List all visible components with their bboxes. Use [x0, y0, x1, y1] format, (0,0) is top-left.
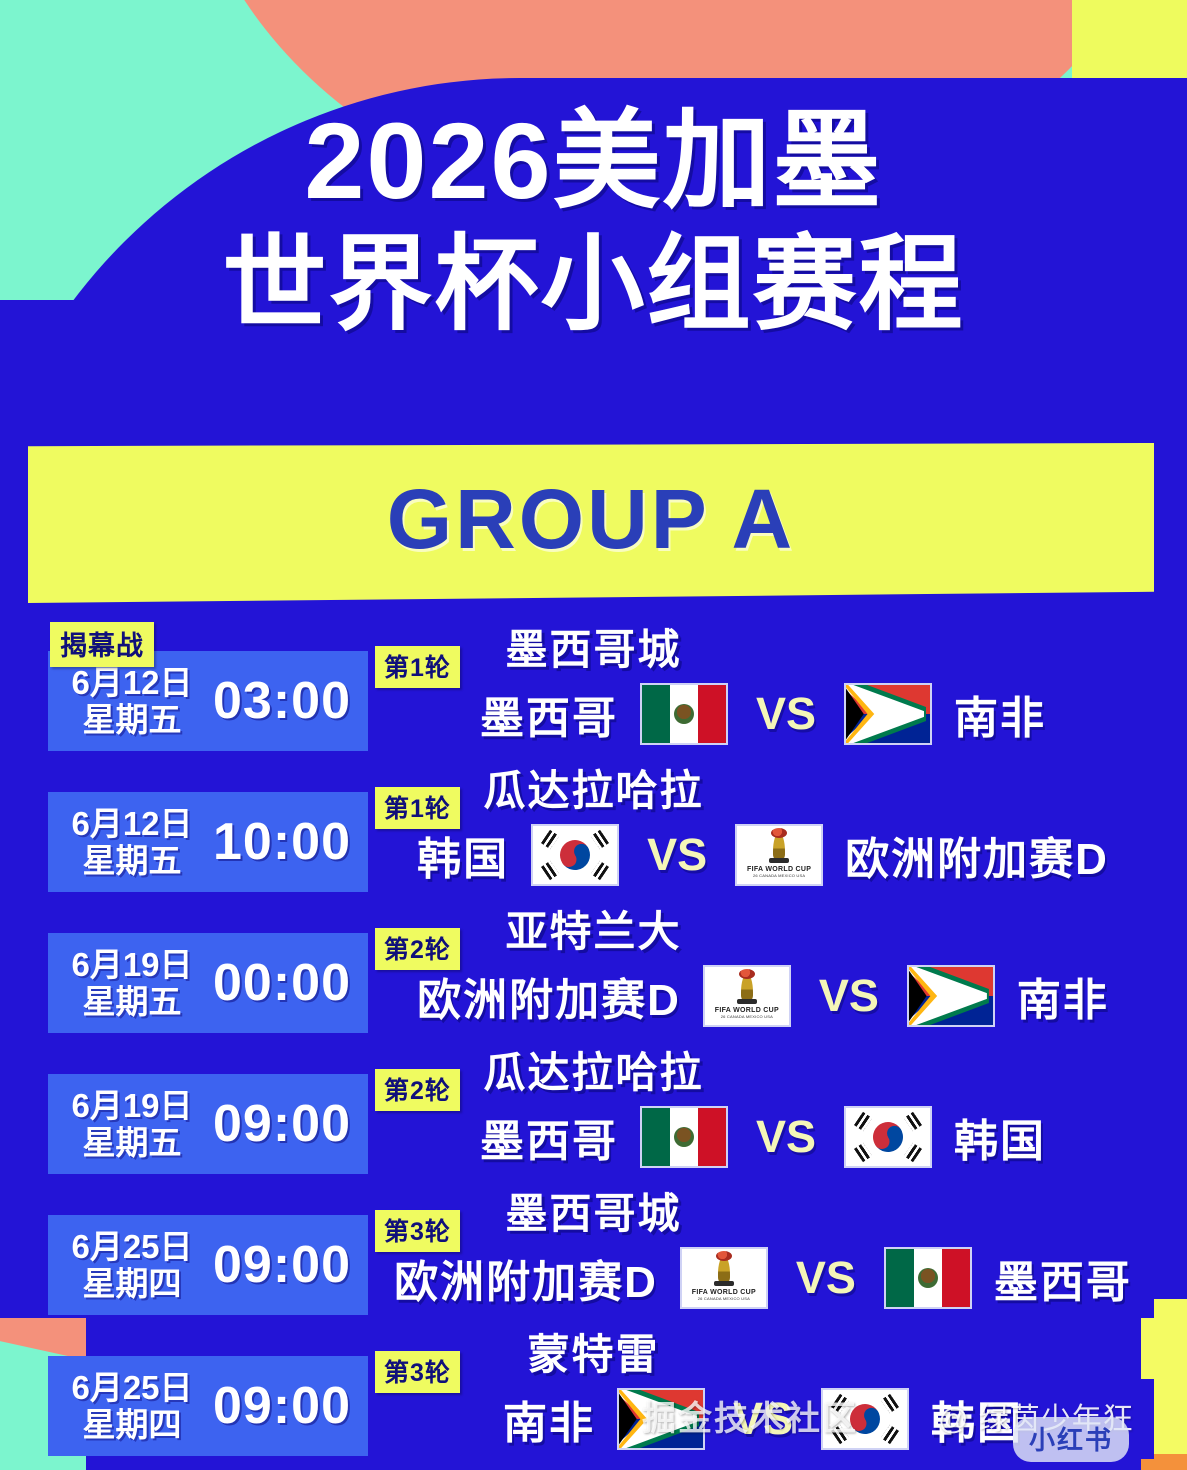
match-time: 09:00 [202, 1094, 368, 1154]
match-row[interactable]: 墨西哥城揭幕战6月12日星期五03:00第1轮墨西哥VS南非 [0, 620, 1187, 761]
match-row[interactable]: 亚特兰大6月19日星期五00:00第2轮欧洲附加赛DFIFA WORLD CUP… [0, 902, 1187, 1043]
watermark-platform-badge: 小红书 [1013, 1417, 1129, 1462]
away-team-name: 南非 [954, 682, 1046, 746]
match-round-badge: 第2轮 [375, 1069, 460, 1111]
watermark-site: 掘金技术社区 [642, 1391, 858, 1440]
match-round-badge: 第2轮 [375, 928, 460, 970]
yellow-corner-decoration [1072, 0, 1187, 78]
match-round-badge: 第1轮 [375, 787, 460, 829]
home-team-name: 欧洲附加赛D [394, 1246, 658, 1310]
group-label: GROUP A [387, 471, 795, 568]
away-team-name: 欧洲附加赛D [845, 823, 1109, 887]
match-weekday: 星期五 [62, 701, 202, 738]
vs-label: VS [750, 1111, 822, 1163]
match-round-badge: 第3轮 [375, 1210, 460, 1252]
match-venue: 瓜达拉哈拉 [0, 757, 1187, 818]
match-row[interactable]: 瓜达拉哈拉6月12日星期五10:00第1轮韩国VSFIFA WORLD CUP2… [0, 761, 1187, 902]
flag-mexico [640, 1106, 728, 1168]
match-time: 03:00 [202, 671, 368, 731]
vs-label: VS [750, 688, 822, 740]
match-weekday: 星期五 [62, 1124, 202, 1161]
match-fixture: 欧洲附加赛DFIFA WORLD CUP26 CANADA MEXICO USA… [372, 1238, 1154, 1318]
flag-mexico [640, 683, 728, 745]
match-venue: 亚特兰大 [0, 898, 1187, 959]
match-fixture: 韩国VSFIFA WORLD CUP26 CANADA MEXICO USA欧洲… [372, 815, 1154, 895]
title-line-2: 世界杯小组赛程 [0, 231, 1187, 340]
flag-south-korea [844, 1106, 932, 1168]
match-time: 10:00 [202, 812, 368, 872]
fifa-world-cup-logo: FIFA WORLD CUP26 CANADA MEXICO USA [703, 965, 791, 1027]
match-time: 00:00 [202, 953, 368, 1013]
fifa-world-cup-logo: FIFA WORLD CUP26 CANADA MEXICO USA [735, 824, 823, 886]
away-team-name: 韩国 [954, 1105, 1046, 1169]
match-list: 墨西哥城揭幕战6月12日星期五03:00第1轮墨西哥VS南非瓜达拉哈拉6月12日… [0, 620, 1187, 1466]
vs-label: VS [641, 829, 713, 881]
match-round-badge: 第1轮 [375, 646, 460, 688]
match-venue: 蒙特雷 [0, 1321, 1187, 1382]
match-weekday: 星期五 [62, 842, 202, 879]
match-weekday: 星期四 [62, 1406, 202, 1443]
away-team-name: 南非 [1017, 964, 1109, 1028]
home-team-name: 墨西哥 [480, 1105, 618, 1169]
vs-label: VS [790, 1252, 862, 1304]
match-venue: 墨西哥城 [0, 1180, 1187, 1241]
flag-mexico [884, 1247, 972, 1309]
match-fixture: 欧洲附加赛DFIFA WORLD CUP26 CANADA MEXICO USA… [372, 956, 1154, 1036]
match-round-badge: 第3轮 [375, 1351, 460, 1393]
match-time: 09:00 [202, 1235, 368, 1295]
fifa-world-cup-logo: FIFA WORLD CUP26 CANADA MEXICO USA [680, 1247, 768, 1309]
vs-label: VS [813, 970, 885, 1022]
poster-root: 2026美加墨 世界杯小组赛程 GROUP A 墨西哥城揭幕战6月12日星期五0… [0, 0, 1187, 1470]
match-weekday: 星期四 [62, 1265, 202, 1302]
home-team-name: 韩国 [417, 823, 509, 887]
match-time: 09:00 [202, 1376, 368, 1436]
match-fixture: 墨西哥VS南非 [372, 674, 1154, 754]
away-team-name: 墨西哥 [994, 1246, 1132, 1310]
title-line-1: 2026美加墨 [0, 104, 1187, 217]
poster-title: 2026美加墨 世界杯小组赛程 [0, 104, 1187, 341]
match-weekday: 星期五 [62, 983, 202, 1020]
match-row[interactable]: 墨西哥城6月25日星期四09:00第3轮欧洲附加赛DFIFA WORLD CUP… [0, 1184, 1187, 1325]
match-venue: 墨西哥城 [0, 616, 1187, 677]
home-team-name: 墨西哥 [480, 682, 618, 746]
match-venue: 瓜达拉哈拉 [0, 1039, 1187, 1100]
match-row[interactable]: 瓜达拉哈拉6月19日星期五09:00第2轮墨西哥VS韩国 [0, 1043, 1187, 1184]
home-team-name: 欧洲附加赛D [417, 964, 681, 1028]
flag-south-korea [531, 824, 619, 886]
flag-south-africa [907, 965, 995, 1027]
flag-south-africa [844, 683, 932, 745]
group-banner: GROUP A [28, 443, 1154, 603]
home-team-name: 南非 [503, 1387, 595, 1451]
match-fixture: 墨西哥VS韩国 [372, 1097, 1154, 1177]
